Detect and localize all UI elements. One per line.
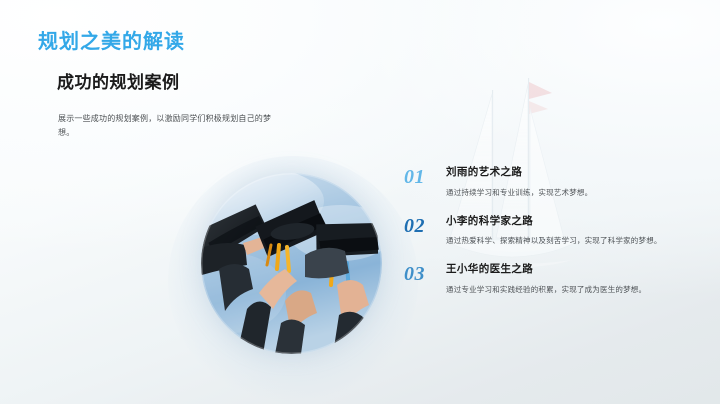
page-title: 规划之美的解读 <box>38 25 185 54</box>
case-description: 通过热爱科学、探索精神以及刻苦学习，实现了科学家的梦想。 <box>446 234 664 247</box>
case-number: 02 <box>404 215 446 236</box>
section-heading: 成功的规划案例 <box>57 68 180 93</box>
graduation-photo <box>201 173 382 354</box>
presentation-slide: 规划之美的解读 成功的规划案例 展示一些成功的规划案例，以激励同学们积极规划自己… <box>0 0 720 404</box>
case-number: 01 <box>404 166 446 187</box>
case-title: 王小华的医生之路 <box>446 263 704 276</box>
case-number: 03 <box>404 263 446 284</box>
case-description: 通过专业学习和实践经验的积累，实现了成为医生的梦想。 <box>446 283 664 296</box>
list-item[interactable]: 01 刘雨的艺术之路 通过持续学习和专业训练，实现艺术梦想。 <box>404 166 704 199</box>
list-item[interactable]: 03 王小华的医生之路 通过专业学习和实践经验的积累，实现了成为医生的梦想。 <box>404 263 704 296</box>
case-list: 01 刘雨的艺术之路 通过持续学习和专业训练，实现艺术梦想。 02 小李的科学家… <box>404 166 704 312</box>
case-title: 刘雨的艺术之路 <box>446 166 704 179</box>
section-description: 展示一些成功的规划案例，以激励同学们积极规划自己的梦想。 <box>58 112 286 140</box>
case-description: 通过持续学习和专业训练，实现艺术梦想。 <box>446 186 664 199</box>
case-title: 小李的科学家之路 <box>446 215 704 228</box>
list-item[interactable]: 02 小李的科学家之路 通过热爱科学、探索精神以及刻苦学习，实现了科学家的梦想。 <box>404 215 704 248</box>
